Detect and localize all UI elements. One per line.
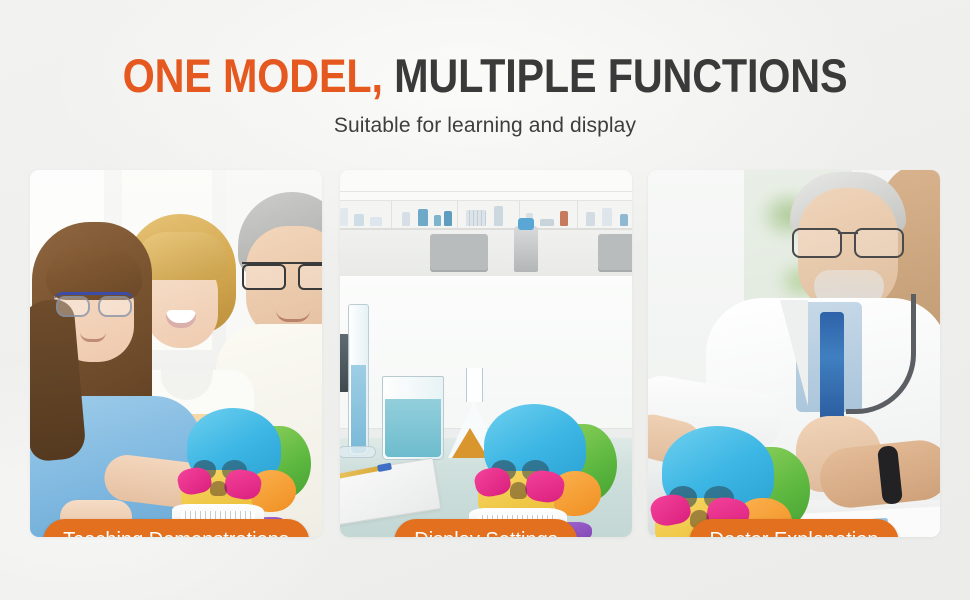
lab-monitor: [430, 234, 488, 270]
page-title-accent: ONE MODEL,: [123, 49, 383, 102]
glasses-icon: [242, 262, 322, 284]
badge-doctor-explanation[interactable]: Doctor Explanation: [690, 519, 899, 537]
page-title-main: MULTIPLE FUNCTIONS: [394, 49, 847, 102]
skull-model: [160, 408, 308, 537]
page-subtitle: Suitable for learning and display: [0, 114, 970, 138]
lab-monitor: [598, 234, 632, 270]
beaker: [382, 376, 444, 460]
teaching-scene-image: [30, 170, 322, 537]
doctor-tie: [820, 312, 844, 424]
panel-teaching[interactable]: Teaching Demonstrations: [30, 170, 322, 537]
panel-doctor[interactable]: Doctor Explanation: [648, 170, 940, 537]
skull-model: [456, 404, 614, 537]
panel-display[interactable]: Display Settings: [340, 170, 632, 537]
doctor-scene-image: [648, 170, 940, 537]
badge-teaching-demonstrations[interactable]: Teaching Demonstrations: [43, 519, 309, 537]
page-header: ONE MODEL, MULTIPLE FUNCTIONS Suitable f…: [0, 52, 970, 138]
graduated-cylinder: [348, 304, 369, 456]
feature-panels: Teaching Demonstrations: [30, 170, 940, 537]
microscope-icon: [514, 226, 538, 272]
page-title: ONE MODEL, MULTIPLE FUNCTIONS: [58, 52, 912, 99]
badge-display-settings[interactable]: Display Settings: [394, 519, 577, 537]
display-scene-image: [340, 170, 632, 537]
girl-glasses-icon: [54, 292, 134, 310]
